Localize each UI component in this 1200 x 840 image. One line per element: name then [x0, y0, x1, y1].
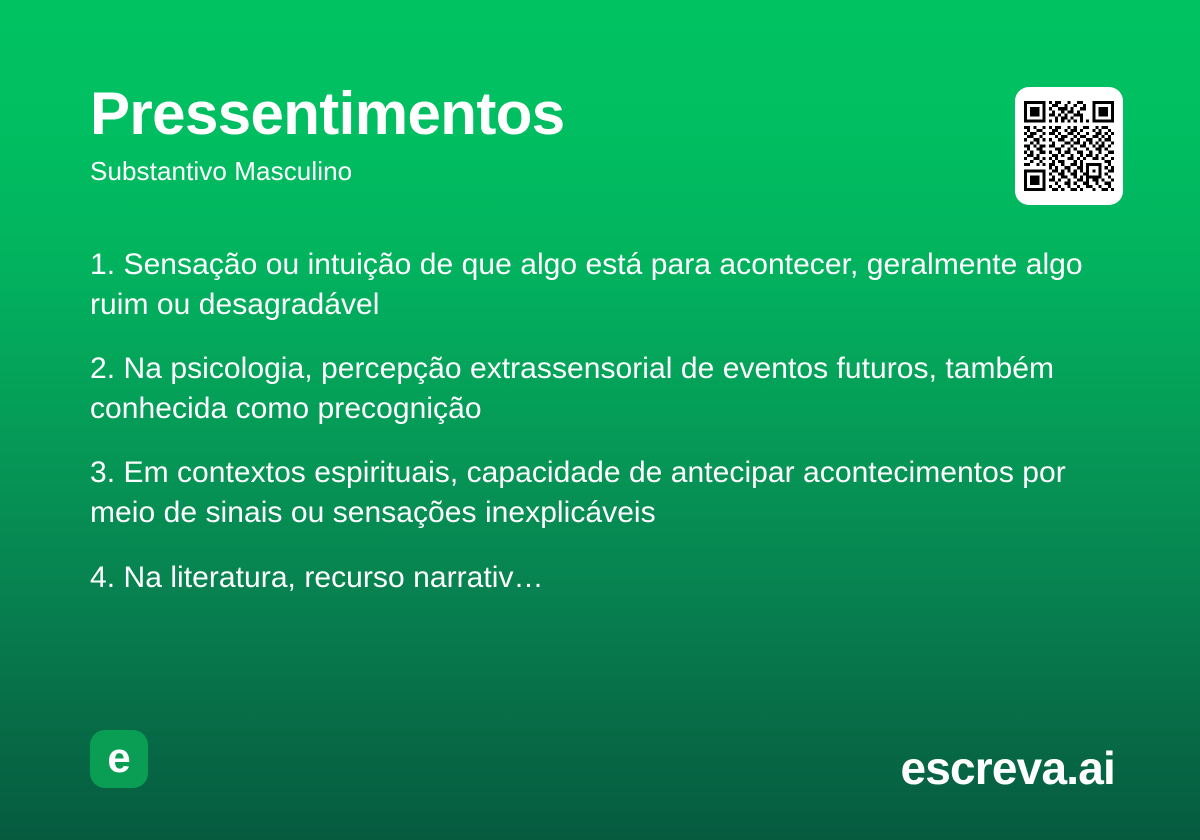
logo-letter: e — [90, 737, 148, 779]
definition-item: 4. Na literatura, recurso narrativ… — [90, 558, 1090, 598]
word-class-subtitle: Substantivo Masculino — [90, 144, 1110, 184]
definition-item: 1. Sensação ou intuição de que algo está… — [90, 245, 1090, 324]
definition-item: 2. Na psicologia, percepção extrassensor… — [90, 349, 1090, 428]
definition-list: 1. Sensação ou intuição de que algo está… — [90, 245, 1100, 597]
qr-code[interactable] — [1015, 87, 1123, 205]
brand-wordmark: escreva.ai — [900, 745, 1115, 791]
escreva-logo-icon: e — [90, 730, 148, 788]
qr-code-icon — [1024, 101, 1114, 191]
definition-item: 3. Em contextos espirituais, capacidade … — [90, 453, 1090, 532]
card-header: Pressentimentos Substantivo Masculino — [90, 84, 1110, 214]
card-footer: e escreva.ai — [90, 728, 1115, 788]
page-title: Pressentimentos — [90, 84, 1110, 144]
dictionary-card: Pressentimentos Substantivo Masculino — [0, 0, 1200, 840]
